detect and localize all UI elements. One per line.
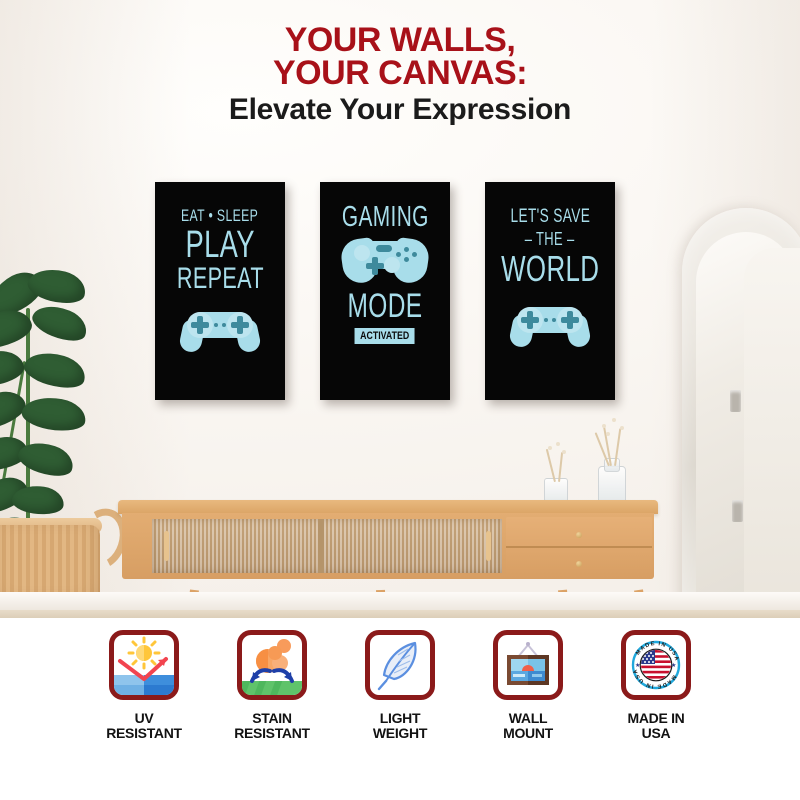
playstation-gamepad-icon — [181, 306, 259, 352]
wooden-sideboard — [118, 500, 658, 592]
badge-label: LIGHT WEIGHT — [373, 711, 427, 741]
badge-frame — [109, 630, 179, 700]
panel-line-2: MODE — [348, 291, 423, 322]
framed-picture-icon — [498, 635, 558, 695]
glass-door-divider — [318, 519, 324, 573]
badge-label-line1: UV — [135, 710, 154, 726]
headline-line-2: YOUR CANVAS: — [0, 57, 800, 90]
drawer-knob-top — [576, 532, 582, 538]
badge-label: WALL MOUNT — [503, 711, 553, 741]
canvas-panel-lets-save-the-world[interactable]: LET'S SAVE – THE – WORLD — [485, 182, 615, 400]
playstation-gamepad-icon — [511, 301, 589, 347]
badge-label-line2: RESISTANT — [106, 725, 182, 741]
badge-label: STAIN RESISTANT — [234, 711, 310, 741]
feature-badge-wall-mount[interactable]: WALL MOUNT — [480, 630, 576, 741]
feather-icon — [370, 635, 430, 695]
panel-line-3: WORLD — [501, 252, 599, 285]
product-marketing-image: EAT • SLEEP PLAY REPEAT — [0, 0, 800, 800]
badge-frame — [237, 630, 307, 700]
panel-line-1: EAT • SLEEP — [181, 208, 258, 224]
badge-label-line2: MOUNT — [503, 725, 553, 741]
badge-frame — [365, 630, 435, 700]
headline-subtitle: Elevate Your Expression — [0, 90, 800, 131]
floor — [0, 610, 800, 618]
panel-badge-activated: ACTIVATED — [355, 328, 415, 344]
feature-badge-made-in-usa[interactable]: MADE IN USA MADE IN USA ★ ★ MADE IN USA — [608, 630, 704, 741]
badge-label-line2: RESISTANT — [234, 725, 310, 741]
badge-label-line1: MADE IN — [627, 710, 684, 726]
arched-floor-mirror — [682, 208, 800, 612]
badge-label: MADE IN USA — [627, 711, 684, 741]
wall-baseboard — [0, 592, 800, 612]
panel-line-2: PLAY — [185, 228, 254, 263]
uv-resistant-icon — [114, 635, 174, 695]
feature-badge-light-weight[interactable]: LIGHT WEIGHT — [352, 630, 448, 741]
badge-label-line2: USA — [642, 725, 671, 741]
panel-line-2: – THE – — [525, 231, 575, 248]
xbox-gamepad-icon — [342, 237, 428, 287]
badge-label-line1: WALL — [509, 710, 547, 726]
panel-line-1: GAMING — [342, 204, 429, 231]
stain-resistant-icon — [242, 635, 302, 695]
door-handle-right — [486, 531, 491, 561]
drawer-knob-bottom — [576, 561, 582, 567]
badge-label: UV RESISTANT — [106, 711, 182, 741]
sideboard-top — [118, 500, 658, 514]
feature-badges-row: UV RESISTANT — [0, 630, 800, 800]
badge-frame: MADE IN USA MADE IN USA ★ ★ — [621, 630, 691, 700]
canvas-panel-eat-sleep-play-repeat[interactable]: EAT • SLEEP PLAY REPEAT — [155, 182, 285, 400]
headline-line-1: YOUR WALLS, — [0, 24, 800, 57]
panel-line-1: LET'S SAVE — [510, 208, 590, 225]
drawer-divider — [506, 546, 652, 548]
badge-frame — [493, 630, 563, 700]
fluted-glass-doors — [152, 519, 502, 573]
panel-line-3: REPEAT — [177, 265, 264, 293]
svg-text:★: ★ — [671, 662, 676, 669]
made-in-usa-seal-icon: MADE IN USA MADE IN USA ★ ★ — [626, 635, 686, 695]
svg-text:★: ★ — [635, 662, 640, 669]
door-handle-left — [164, 531, 169, 561]
headline-block: YOUR WALLS, YOUR CANVAS: Elevate Your Ex… — [0, 24, 800, 130]
canvas-panel-gaming-mode-activated[interactable]: GAMING MODE ACTIVATED — [320, 182, 450, 400]
feature-badge-stain-resistant[interactable]: STAIN RESISTANT — [224, 630, 320, 741]
feature-badge-uv-resistant[interactable]: UV RESISTANT — [96, 630, 192, 741]
badge-label-line1: STAIN — [252, 710, 291, 726]
badge-label-line2: WEIGHT — [373, 725, 427, 741]
badge-label-line1: LIGHT — [380, 710, 421, 726]
